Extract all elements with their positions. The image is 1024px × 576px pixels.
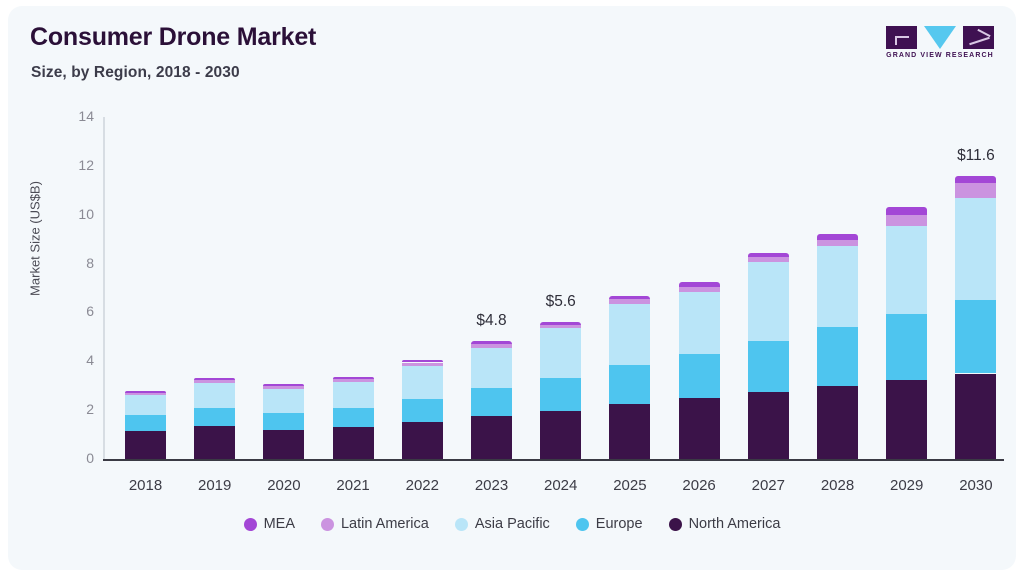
bar-value-label: $11.6	[931, 147, 1016, 165]
bar-segment[interactable]	[402, 366, 443, 399]
x-tick-label: 2022	[387, 477, 457, 494]
bar-column[interactable]	[540, 6, 581, 459]
x-tick-label: 2019	[180, 477, 250, 494]
bar-segment[interactable]	[333, 408, 374, 428]
bar-column[interactable]	[817, 6, 858, 459]
legend-label: Asia Pacific	[475, 516, 550, 532]
bar-segment[interactable]	[471, 344, 512, 348]
bar-segment[interactable]	[471, 341, 512, 344]
bar-segment[interactable]	[125, 395, 166, 415]
bar-column[interactable]	[748, 6, 789, 459]
legend-swatch-icon	[576, 518, 589, 531]
chart-legend: MEALatin AmericaAsia PacificEuropeNorth …	[8, 516, 1016, 532]
bar-column[interactable]	[194, 6, 235, 459]
bar-value-label: $4.8	[447, 312, 537, 330]
legend-item[interactable]: Latin America	[321, 516, 429, 532]
bar-segment[interactable]	[609, 304, 650, 365]
bar-segment[interactable]	[540, 322, 581, 325]
bar-segment[interactable]	[540, 325, 581, 329]
bar-column[interactable]	[609, 6, 650, 459]
bar-segment[interactable]	[194, 408, 235, 426]
bar-segment[interactable]	[263, 430, 304, 459]
bar-segment[interactable]	[333, 379, 374, 382]
legend-label: Europe	[596, 516, 643, 532]
bar-segment[interactable]	[679, 282, 720, 287]
chart-plot-area: Market Size (US$B) 02468101214 201820192…	[8, 6, 1016, 570]
bar-segment[interactable]	[886, 207, 927, 214]
x-tick-label: 2027	[733, 477, 803, 494]
bar-segment[interactable]	[263, 389, 304, 412]
bar-segment[interactable]	[333, 427, 374, 459]
bar-segment[interactable]	[886, 314, 927, 380]
legend-swatch-icon	[669, 518, 682, 531]
bar-segment[interactable]	[194, 378, 235, 380]
x-axis-line	[103, 459, 1004, 461]
bar-segment[interactable]	[609, 299, 650, 303]
bar-segment[interactable]	[125, 431, 166, 459]
bar-column[interactable]	[333, 6, 374, 459]
bar-segment[interactable]	[886, 215, 927, 226]
bar-segment[interactable]	[125, 415, 166, 431]
bar-segment[interactable]	[748, 392, 789, 459]
x-tick-label: 2026	[664, 477, 734, 494]
bar-segment[interactable]	[125, 393, 166, 395]
bar-segment[interactable]	[955, 374, 996, 460]
legend-label: North America	[689, 516, 781, 532]
legend-swatch-icon	[455, 518, 468, 531]
x-tick-label: 2024	[526, 477, 596, 494]
bar-segment[interactable]	[125, 391, 166, 393]
legend-label: Latin America	[341, 516, 429, 532]
legend-swatch-icon	[321, 518, 334, 531]
bar-segment[interactable]	[817, 240, 858, 246]
bar-segment[interactable]	[817, 246, 858, 327]
bar-value-label: $5.6	[516, 293, 606, 311]
bar-segment[interactable]	[609, 296, 650, 300]
bar-segment[interactable]	[402, 422, 443, 459]
legend-item[interactable]: MEA	[244, 516, 295, 532]
bar-segment[interactable]	[679, 398, 720, 459]
bar-column[interactable]	[125, 6, 166, 459]
bar-segment[interactable]	[679, 354, 720, 398]
bar-series-container	[8, 6, 1016, 459]
bar-segment[interactable]	[679, 292, 720, 354]
bar-segment[interactable]	[333, 377, 374, 379]
legend-item[interactable]: North America	[669, 516, 781, 532]
bar-column[interactable]	[263, 6, 304, 459]
bar-segment[interactable]	[748, 253, 789, 258]
bar-segment[interactable]	[194, 426, 235, 459]
bar-segment[interactable]	[194, 383, 235, 407]
bar-segment[interactable]	[402, 363, 443, 367]
bar-segment[interactable]	[679, 287, 720, 292]
x-tick-label: 2018	[111, 477, 181, 494]
bar-segment[interactable]	[955, 198, 996, 301]
bar-segment[interactable]	[817, 386, 858, 459]
bar-segment[interactable]	[609, 365, 650, 404]
bar-column[interactable]	[471, 6, 512, 459]
legend-item[interactable]: Asia Pacific	[455, 516, 550, 532]
bar-segment[interactable]	[263, 386, 304, 389]
legend-swatch-icon	[244, 518, 257, 531]
bar-segment[interactable]	[748, 262, 789, 340]
bar-segment[interactable]	[609, 404, 650, 459]
bar-segment[interactable]	[955, 183, 996, 198]
bar-column[interactable]	[955, 6, 996, 459]
bar-segment[interactable]	[817, 234, 858, 240]
bar-segment[interactable]	[540, 328, 581, 378]
bar-column[interactable]	[886, 6, 927, 459]
bar-segment[interactable]	[263, 413, 304, 430]
legend-label: MEA	[264, 516, 295, 532]
legend-item[interactable]: Europe	[576, 516, 643, 532]
bar-segment[interactable]	[886, 226, 927, 314]
x-tick-label: 2029	[872, 477, 942, 494]
chart-card: Consumer Drone Market Size, by Region, 2…	[8, 6, 1016, 570]
x-tick-label: 2023	[457, 477, 527, 494]
x-tick-label: 2020	[249, 477, 319, 494]
x-tick-label: 2025	[595, 477, 665, 494]
bar-segment[interactable]	[748, 341, 789, 392]
bar-column[interactable]	[402, 6, 443, 459]
bar-segment[interactable]	[471, 348, 512, 388]
chart-page: Consumer Drone Market Size, by Region, 2…	[0, 0, 1024, 576]
bar-segment[interactable]	[955, 176, 996, 183]
bar-segment[interactable]	[955, 300, 996, 373]
bar-column[interactable]	[679, 6, 720, 459]
bar-segment[interactable]	[471, 416, 512, 459]
bar-segment[interactable]	[471, 388, 512, 416]
bar-segment[interactable]	[540, 411, 581, 459]
bar-segment[interactable]	[333, 382, 374, 408]
bar-segment[interactable]	[817, 327, 858, 386]
bar-segment[interactable]	[886, 380, 927, 459]
bar-segment[interactable]	[540, 378, 581, 411]
x-tick-label: 2021	[318, 477, 388, 494]
bar-segment[interactable]	[402, 399, 443, 422]
x-tick-label: 2028	[803, 477, 873, 494]
bar-segment[interactable]	[748, 257, 789, 262]
x-tick-label: 2030	[941, 477, 1011, 494]
bar-segment[interactable]	[194, 380, 235, 383]
